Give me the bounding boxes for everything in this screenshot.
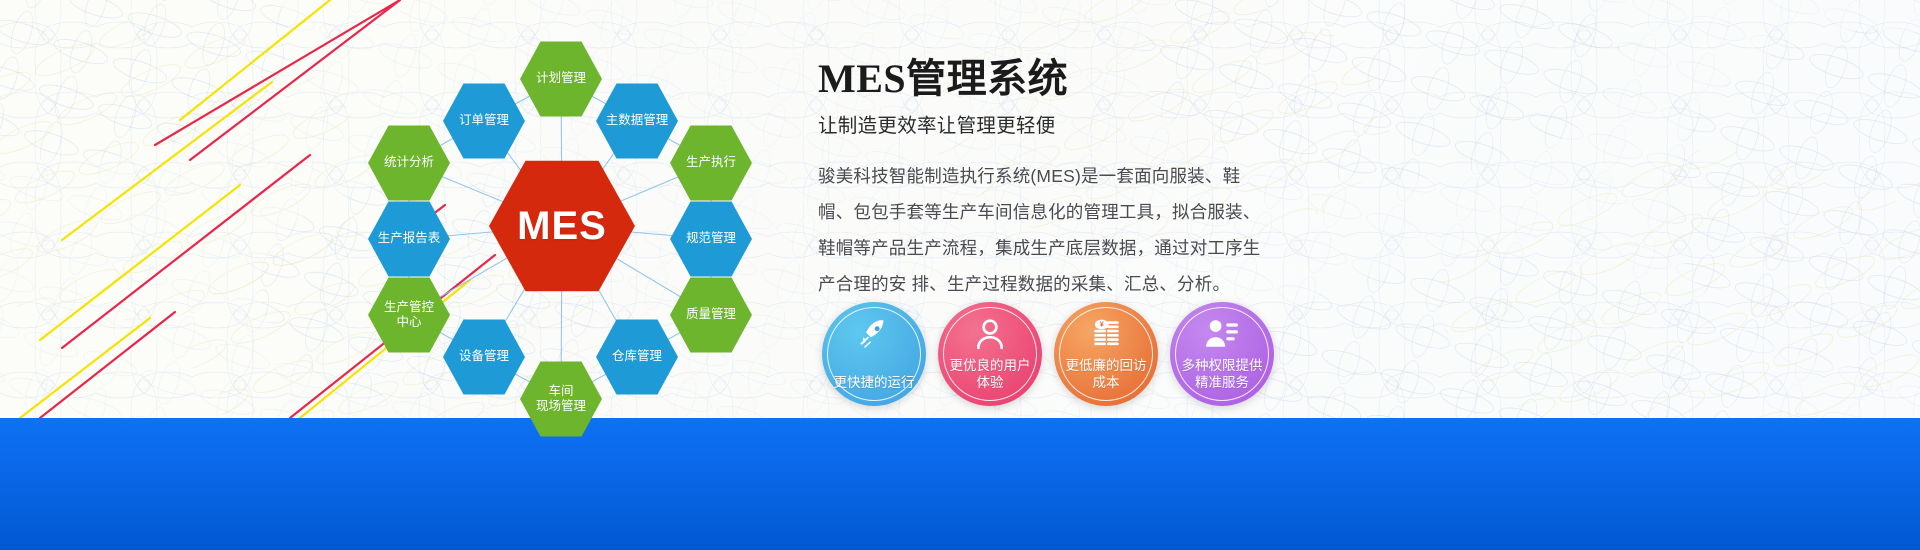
- page-subtitle: 让制造更效率让管理更轻便: [818, 109, 1338, 138]
- hex-label-4: 生产执行: [678, 155, 744, 170]
- user-icon: [973, 317, 1007, 351]
- page-title: MES管理系统: [818, 58, 1338, 100]
- hex-label-1: 订单管理: [451, 113, 517, 128]
- badge-label-1: 更优良的用户体验: [944, 357, 1036, 391]
- hex-label-3: 统计分析: [376, 155, 442, 170]
- badge-label-3: 多种权限提供精准服务: [1176, 357, 1268, 391]
- hex-label-11: 车间现场管理: [528, 384, 594, 415]
- user-list-icon: [1205, 317, 1239, 351]
- hexagon-diagram: MES 计划管理 订单管理 主数据管理 统计分析 生产执行 生产报告表 规范管理…: [330, 10, 800, 440]
- badge-0[interactable]: 更快捷的运行: [822, 302, 926, 406]
- rocket-icon: [857, 317, 891, 351]
- hex-label-2: 主数据管理: [598, 113, 677, 128]
- badge-3[interactable]: 多种权限提供精准服务: [1170, 302, 1274, 406]
- hex-label-7: 生产管控中心: [376, 300, 442, 331]
- svg-text:¥: ¥: [1100, 322, 1104, 329]
- badge-2[interactable]: ¥ 更低廉的回访成本: [1054, 302, 1158, 406]
- coin-stack-icon: ¥: [1089, 317, 1123, 351]
- hex-label-9: 设备管理: [451, 349, 517, 364]
- hex-label-center: MES: [513, 202, 611, 251]
- badge-label-0: 更快捷的运行: [828, 374, 920, 391]
- badge-1[interactable]: 更优良的用户体验: [938, 302, 1042, 406]
- hex-label-0: 计划管理: [528, 71, 594, 86]
- mes-banner: MES 计划管理 订单管理 主数据管理 统计分析 生产执行 生产报告表 规范管理…: [0, 0, 1920, 550]
- feature-badges: 更快捷的运行 更优良的用户体验: [822, 302, 1274, 406]
- hex-label-8: 质量管理: [678, 307, 744, 322]
- page-description: 骏美科技智能制造执行系统(MES)是一套面向服装、鞋帽、包包手套等生产车间信息化…: [818, 158, 1270, 302]
- hex-label-6: 规范管理: [678, 231, 744, 246]
- hex-label-5: 生产报告表: [370, 231, 449, 246]
- hex-label-10: 仓库管理: [604, 349, 670, 364]
- badge-label-2: 更低廉的回访成本: [1060, 357, 1152, 391]
- text-block: MES管理系统 让制造更效率让管理更轻便 骏美科技智能制造执行系统(MES)是一…: [818, 58, 1338, 302]
- blue-band: [0, 418, 1920, 550]
